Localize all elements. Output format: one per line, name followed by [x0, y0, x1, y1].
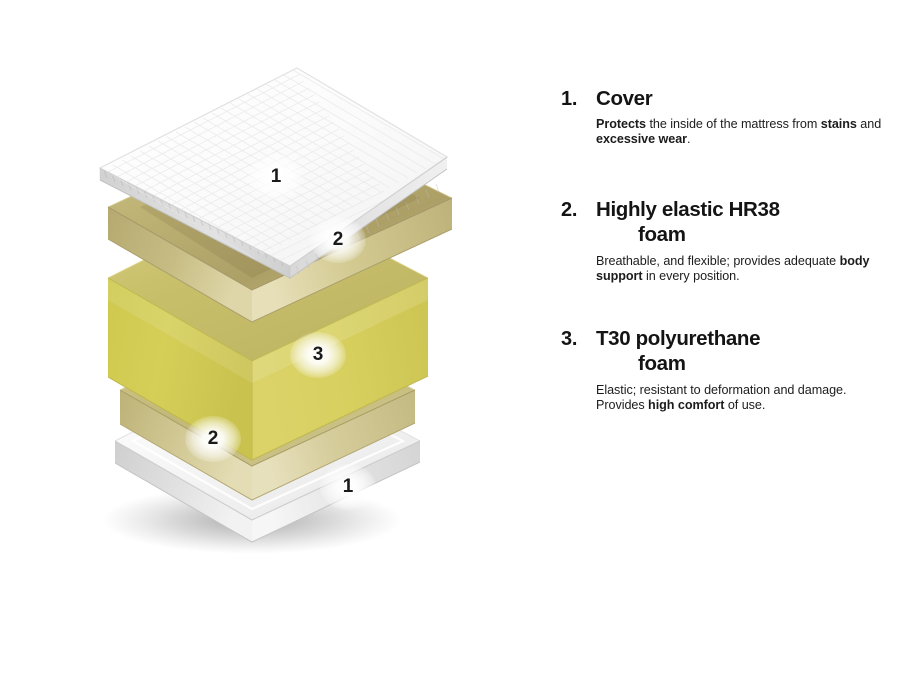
legend-item-description: Elastic; resistant to deformation and da…: [596, 376, 891, 414]
legend-item-title-line1: Cover: [596, 87, 652, 110]
legend-item-title-line2: foam: [596, 351, 891, 376]
legend-item-title-line1: T30 polyurethane: [596, 327, 760, 350]
mattress-layers-diagram: 1 2 3 2 1: [0, 0, 520, 675]
legend-item-cover: 1. Cover Protects the inside of the matt…: [555, 86, 900, 148]
mattress-layers-svg: [0, 0, 520, 675]
legend-item-body: T30 polyurethane foam Elastic; resistant…: [596, 326, 891, 414]
legend-item-index: 3.: [561, 326, 589, 352]
legend-item-title: Cover: [596, 86, 891, 111]
legend-item-body: Cover Protects the inside of the mattres…: [596, 86, 891, 148]
legend-item-description: Protects the inside of the mattress from…: [596, 111, 891, 148]
legend-panel: 1. Cover Protects the inside of the matt…: [555, 0, 900, 675]
legend-item-body: Highly elastic HR38 foam Breathable, and…: [596, 197, 891, 285]
legend-item-title: Highly elastic HR38 foam: [596, 197, 891, 247]
legend-item-title-line1: Highly elastic HR38: [596, 198, 780, 221]
legend-item-t30-foam: 3. T30 polyurethane foam Elastic; resist…: [555, 326, 900, 414]
legend-item-description: Breathable, and flexible; provides adequ…: [596, 247, 891, 285]
legend-item-index: 2.: [561, 197, 589, 223]
legend-item-hr38-foam: 2. Highly elastic HR38 foam Breathable, …: [555, 197, 900, 285]
legend-item-index: 1.: [561, 86, 589, 112]
legend-item-title-line2: foam: [596, 222, 891, 247]
legend-item-title: T30 polyurethane foam: [596, 326, 891, 376]
